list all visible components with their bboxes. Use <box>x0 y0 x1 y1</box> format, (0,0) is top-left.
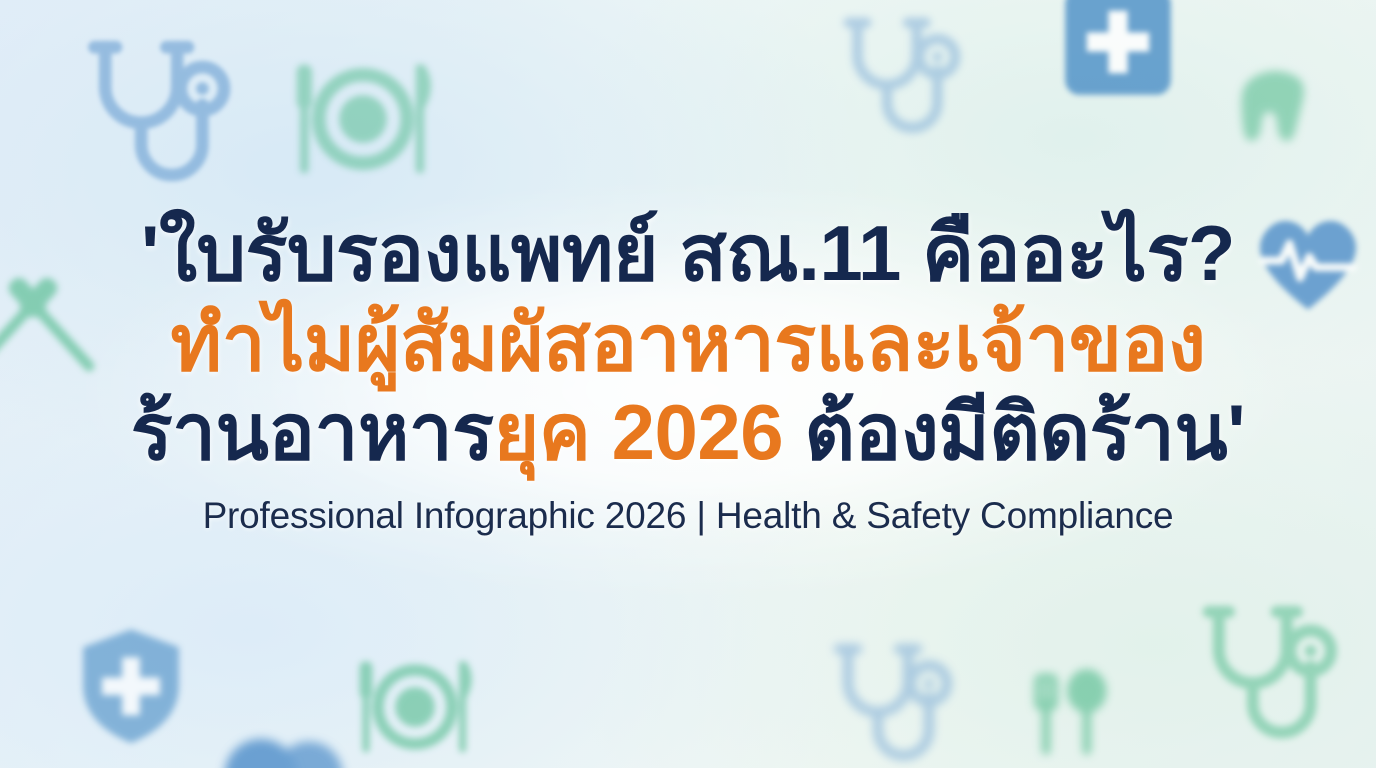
stethoscope-icon <box>1178 588 1348 758</box>
title-line-1: 'ใบรับรองแพทย์ สณ.11 คืออะไร? <box>0 214 1376 294</box>
stethoscope-icon <box>812 628 962 768</box>
hero-text-block: 'ใบรับรองแพทย์ สณ.11 คืออะไร? ทำไมผู้สัม… <box>0 214 1376 537</box>
plate-fork-knife-icon <box>344 636 486 768</box>
title-line-3-segment-navy-tail: ต้องมีติดร้าน' <box>804 388 1245 476</box>
fork-spoon-icon <box>1012 658 1122 768</box>
pills-icon <box>218 700 348 768</box>
title-line-2: ทำไมผู้สัมผัสอาหารและเจ้าของ <box>0 304 1376 384</box>
tooth-icon <box>1228 60 1324 156</box>
stethoscope-icon <box>822 2 970 150</box>
subtitle: Professional Infographic 2026 | Health &… <box>0 495 1376 537</box>
stethoscope-icon <box>62 22 242 202</box>
medical-cross-square-icon <box>1058 0 1178 102</box>
title-line-3-segment-navy-lead: ร้านอาหาร <box>131 388 494 476</box>
infographic-title-card: 'ใบรับรองแพทย์ สณ.11 คืออะไร? ทำไมผู้สัม… <box>0 0 1376 768</box>
title-line-3: ร้านอาหารยุค 2026 ต้องมีติดร้าน' <box>0 393 1376 473</box>
title-line-3-segment-orange: ยุค 2026 <box>494 388 805 476</box>
shield-cross-icon <box>68 622 194 748</box>
plate-fork-knife-icon <box>278 34 448 204</box>
